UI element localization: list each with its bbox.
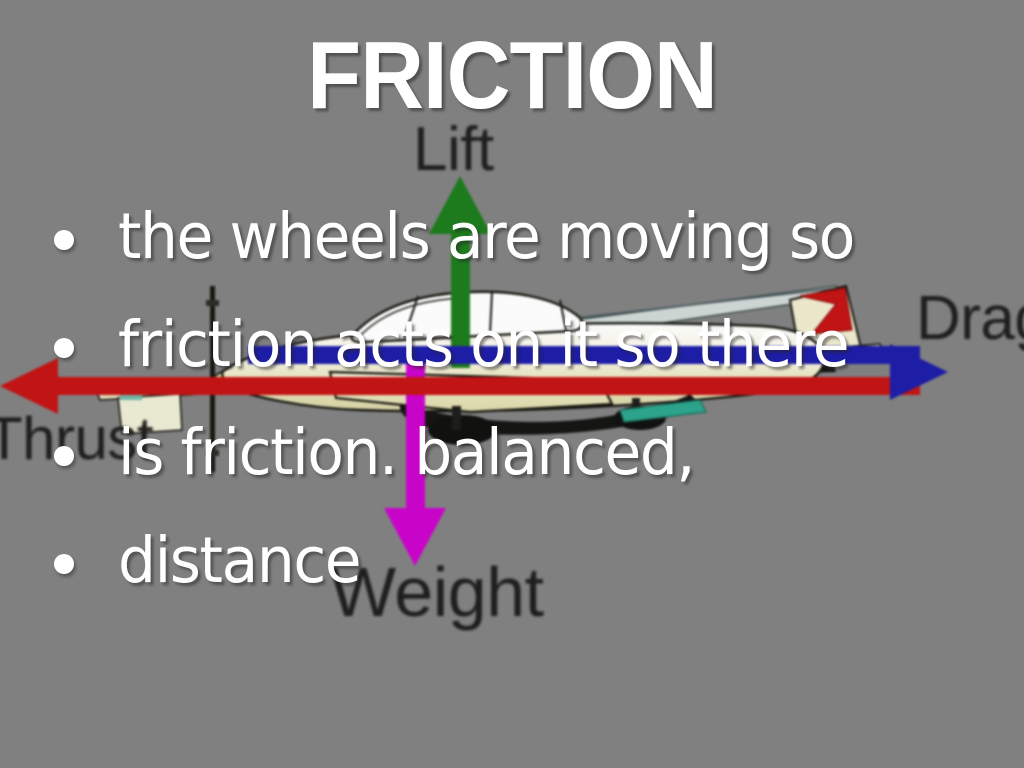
bullet-text: friction acts on it so there <box>118 308 979 382</box>
bullet-text: is friction. balanced, <box>118 416 979 490</box>
bullet-text: the wheels are moving so <box>118 200 979 274</box>
list-item: the wheels are moving so <box>40 200 1024 308</box>
list-item: distance <box>40 524 1024 632</box>
bullet-dot-icon <box>54 554 74 574</box>
slide-title: FRICTION <box>41 30 983 122</box>
bullet-dot-icon <box>54 446 74 466</box>
slide-canvas: Lift Thrust Drag Weight FRICTION the whe… <box>0 0 1024 768</box>
list-item: is friction. balanced, <box>40 416 1024 524</box>
bullet-dot-icon <box>54 230 74 250</box>
bullet-dot-icon <box>54 338 74 358</box>
bullet-list: the wheels are moving so friction acts o… <box>40 200 1024 632</box>
bullet-text: distance <box>118 524 979 598</box>
list-item: friction acts on it so there <box>40 308 1024 416</box>
